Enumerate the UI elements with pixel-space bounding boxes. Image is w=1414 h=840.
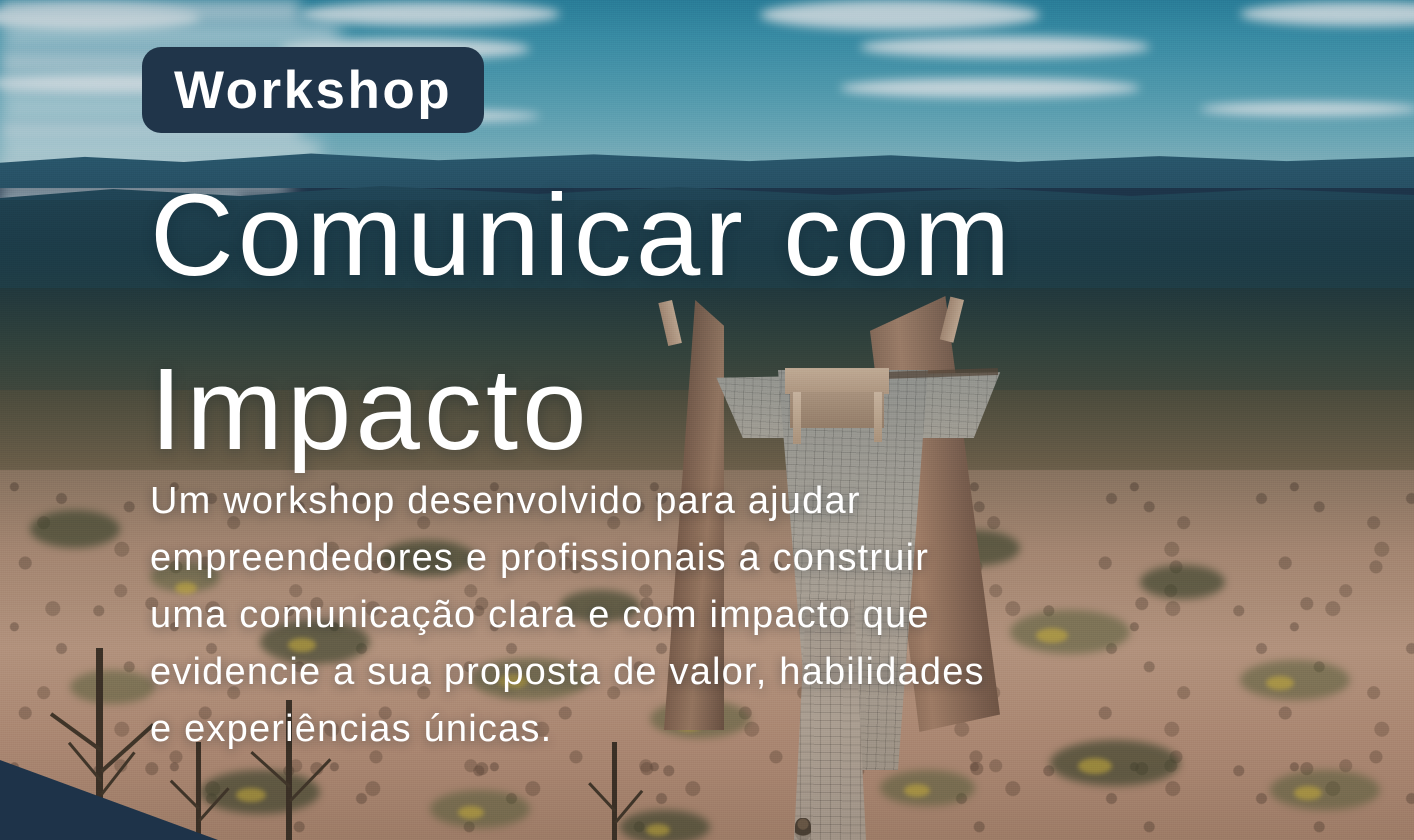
page-description: Um workshop desenvolvido para ajudar emp… bbox=[150, 473, 1290, 758]
workshop-badge: Workshop bbox=[142, 47, 484, 133]
workshop-hero-slide: Workshop Comunicar com Impacto Um worksh… bbox=[0, 0, 1414, 840]
page-title: Comunicar com Impacto bbox=[150, 148, 1350, 496]
content-layer: Workshop Comunicar com Impacto Um worksh… bbox=[0, 0, 1414, 840]
